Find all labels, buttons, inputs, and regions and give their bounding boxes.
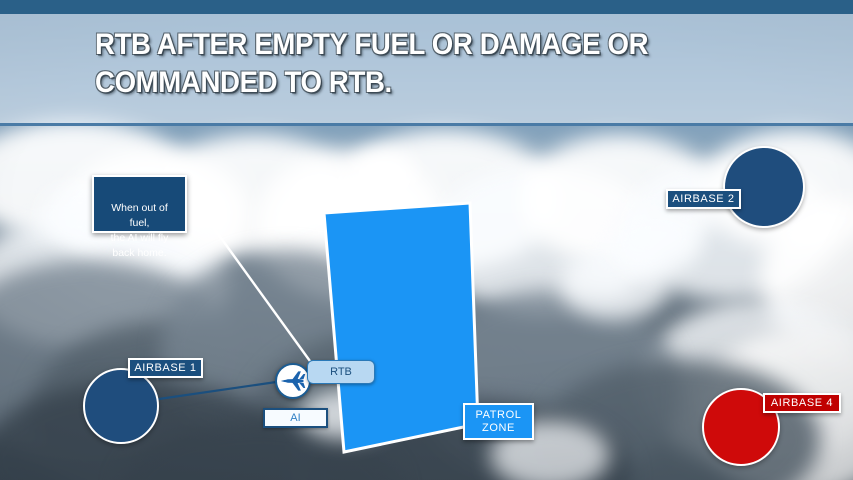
rtb-state-badge[interactable]: RTB (307, 360, 375, 384)
airbase-4-label-text: AIRBASE 4 (771, 397, 833, 410)
rtb-state-text: RTB (330, 366, 352, 378)
airbase-1-marker[interactable] (83, 368, 159, 444)
airbase-2-marker[interactable] (723, 146, 805, 228)
patrol-zone-label-text: PATROL ZONE (476, 409, 522, 435)
airbase-1-label-text: AIRBASE 1 (134, 362, 196, 375)
airbase-1-label[interactable]: AIRBASE 1 (128, 358, 203, 378)
airbase-2-label[interactable]: AIRBASE 2 (666, 189, 741, 209)
slide-canvas: RTB AFTER EMPTY FUEL OR DAMAGE OR COMMAN… (0, 0, 853, 480)
callout-leader-line (187, 191, 315, 368)
ai-label-text: AI (290, 412, 300, 424)
ai-label[interactable]: AI (263, 408, 328, 428)
callout-box[interactable]: When out of fuel, the AI will fly back h… (92, 175, 187, 233)
fighter-jet-icon[interactable] (275, 363, 311, 399)
airbase-4-label[interactable]: AIRBASE 4 (763, 393, 841, 413)
patrol-zone-label[interactable]: PATROL ZONE (463, 403, 534, 440)
return-path-line (152, 381, 283, 400)
airbase-2-label-text: AIRBASE 2 (672, 193, 734, 206)
callout-text: When out of fuel, the AI will fly back h… (111, 202, 169, 259)
fighter-jet-glyph (279, 367, 307, 395)
